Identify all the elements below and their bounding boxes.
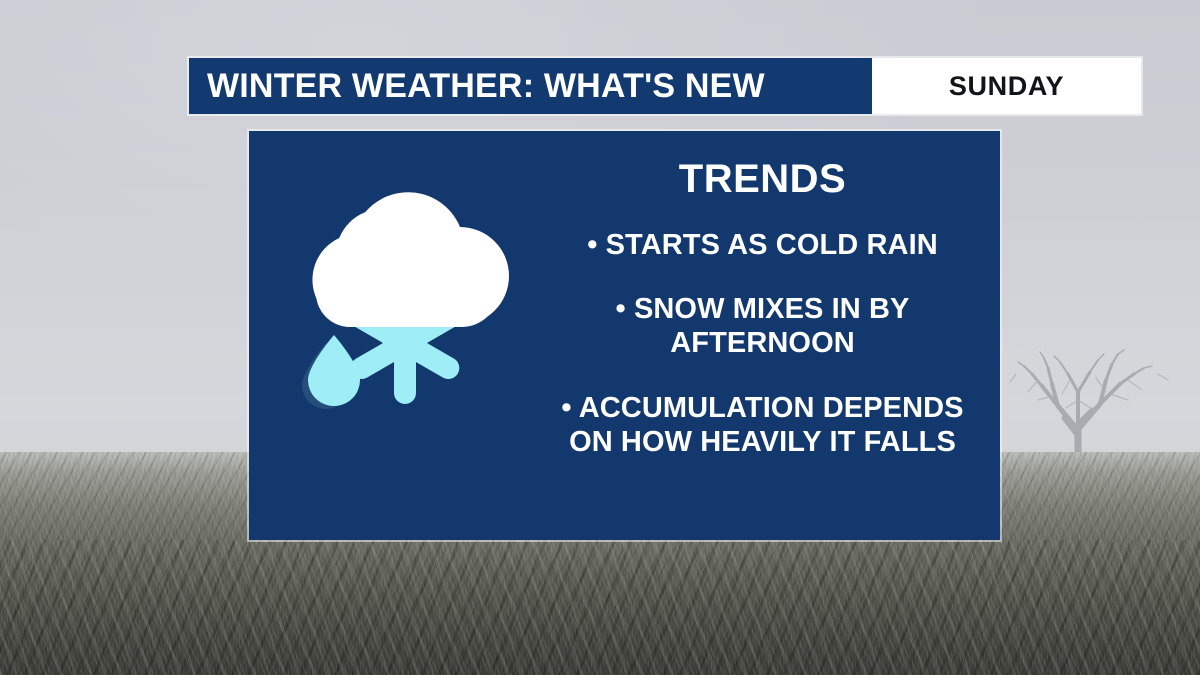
trends-bullet-list: • STARTS AS COLD RAIN • SNOW MIXES IN BY… [543, 228, 982, 459]
header-day-label: SUNDAY [872, 58, 1141, 114]
list-item: • SNOW MIXES IN BY AFTERNOON [543, 292, 982, 360]
header-bar: WINTER WEATHER: WHAT'S NEW SUNDAY [189, 58, 1141, 114]
trends-panel: TRENDS • STARTS AS COLD RAIN • SNOW MIXE… [249, 131, 1000, 540]
list-item: • STARTS AS COLD RAIN [543, 228, 982, 262]
list-item: • ACCUMULATION DEPENDS ON HOW HEAVILY IT… [543, 391, 982, 459]
weather-icon-column [249, 131, 539, 540]
bare-tree-icon [1008, 340, 1198, 470]
trends-heading: TRENDS [679, 157, 846, 202]
cloud-rain-snow-icon [274, 183, 514, 433]
trends-content: TRENDS • STARTS AS COLD RAIN • SNOW MIXE… [539, 131, 1000, 540]
weather-graphic: WINTER WEATHER: WHAT'S NEW SUNDAY [0, 0, 1200, 675]
header-title: WINTER WEATHER: WHAT'S NEW [189, 58, 872, 114]
